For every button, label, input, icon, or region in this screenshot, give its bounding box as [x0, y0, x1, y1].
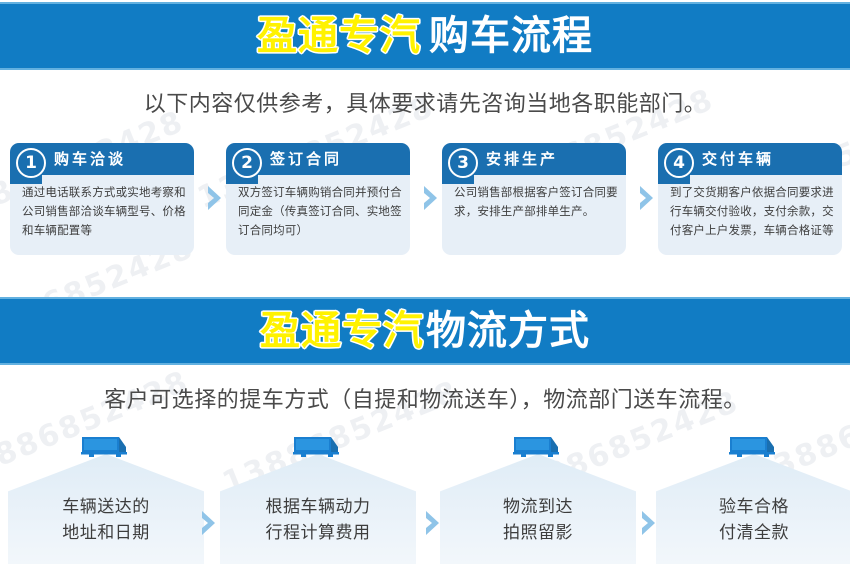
logistics-card-3[interactable]: 物流到达 拍照留影 — [440, 454, 636, 564]
logistics-label-line1: 车辆送达的 — [62, 497, 150, 517]
logistics-banner: 盈通专汽物流方式 — [0, 297, 850, 365]
logistics-label-line2: 拍照留影 — [503, 523, 573, 543]
step-card-4[interactable]: 4 交付车辆 到了交货期客户依据合同要求进行车辆交付验收，支付余款，交付客户上户… — [658, 143, 842, 255]
logistics-label-line1: 物流到达 — [503, 497, 573, 517]
step-card-3[interactable]: 3 安排生产 公司销售部根据客户签订合同要求，安排生产部排单生产。 — [442, 143, 626, 255]
step-card-2[interactable]: 2 签订合同 双方签订车辆购销合同并预付合同定金（传真签订合同、实地签订合同均可… — [226, 143, 410, 255]
truck-icon — [78, 434, 134, 462]
step-number-badge: 2 — [232, 148, 262, 178]
step-title: 购车洽谈 — [54, 143, 126, 175]
step-number-text: 1 — [25, 153, 37, 173]
step-number-badge: 1 — [16, 148, 46, 178]
step-number-badge: 4 — [664, 148, 694, 178]
step-number-badge: 3 — [448, 148, 478, 178]
logistics-card-label: 根据车辆动力 行程计算费用 — [220, 494, 416, 547]
truck-icon — [726, 434, 782, 462]
logistics-label-line2: 付清全款 — [719, 523, 789, 543]
chevron-right-icon-5 — [424, 510, 444, 536]
logistics-subheading: 客户可选择的提车方式（自提和物流送车），物流部门送车流程。 — [0, 382, 850, 414]
step-description: 到了交货期客户依据合同要求进行车辆交付验收，支付余款，交付客户上户发票，车辆合格… — [670, 183, 834, 240]
banner-title: 盈通专汽购车流程 — [257, 16, 593, 56]
logistics-label-line2: 地址和日期 — [62, 523, 150, 543]
step-number-text: 4 — [673, 153, 685, 173]
chevron-right-icon-2 — [422, 185, 442, 211]
step-number-text: 2 — [241, 153, 253, 173]
chevron-right-icon-6 — [640, 510, 660, 536]
step-title: 交付车辆 — [702, 143, 774, 175]
step-description: 通过电话联系方式或实地考察和公司销售部洽谈车辆型号、价格和车辆配置等 — [22, 183, 186, 240]
step-title: 签订合同 — [270, 143, 342, 175]
logistics-label-line2: 行程计算费用 — [266, 523, 371, 543]
chevron-right-icon-4 — [200, 510, 220, 536]
purchase-flow-subheading: 以下内容仅供参考，具体要求请先咨询当地各职能部门。 — [0, 86, 850, 118]
step-card-1[interactable]: 1 购车洽谈 通过电话联系方式或实地考察和公司销售部洽谈车辆型号、价格和车辆配置… — [10, 143, 194, 255]
step-title: 安排生产 — [486, 143, 558, 175]
step-number-text: 3 — [457, 153, 469, 173]
logistics-label-line1: 根据车辆动力 — [266, 497, 371, 517]
logistics-card-1[interactable]: 车辆送达的 地址和日期 — [8, 454, 204, 564]
logistics-steps-row: 车辆送达的 地址和日期 根据车辆动力 行程计算费用 — [0, 432, 850, 564]
banner-title: 盈通专汽物流方式 — [260, 311, 590, 351]
logistics-card-label: 车辆送达的 地址和日期 — [8, 494, 204, 547]
truck-icon — [510, 434, 566, 462]
chevron-right-icon-1 — [206, 185, 226, 211]
step-description: 公司销售部根据客户签订合同要求，安排生产部排单生产。 — [454, 183, 618, 221]
logistics-card-2[interactable]: 根据车辆动力 行程计算费用 — [220, 454, 416, 564]
purchase-flow-banner: 盈通专汽购车流程 — [0, 2, 850, 70]
banner-section-title: 物流方式 — [426, 308, 590, 354]
banner-brand-text: 盈通专汽 — [257, 13, 421, 59]
logistics-label-line1: 验车合格 — [719, 497, 789, 517]
logistics-card-4[interactable]: 验车合格 付清全款 — [656, 454, 850, 564]
logistics-card-label: 验车合格 付清全款 — [656, 494, 850, 547]
chevron-right-icon-3 — [638, 185, 658, 211]
banner-section-title: 购车流程 — [429, 13, 593, 59]
purchase-steps-row: 1 购车洽谈 通过电话联系方式或实地考察和公司销售部洽谈车辆型号、价格和车辆配置… — [10, 143, 842, 258]
banner-brand-text: 盈通专汽 — [260, 308, 424, 354]
logistics-card-label: 物流到达 拍照留影 — [440, 494, 636, 547]
truck-icon — [290, 434, 346, 462]
step-description: 双方签订车辆购销合同并预付合同定金（传真签订合同、实地签订合同均可） — [238, 183, 402, 240]
